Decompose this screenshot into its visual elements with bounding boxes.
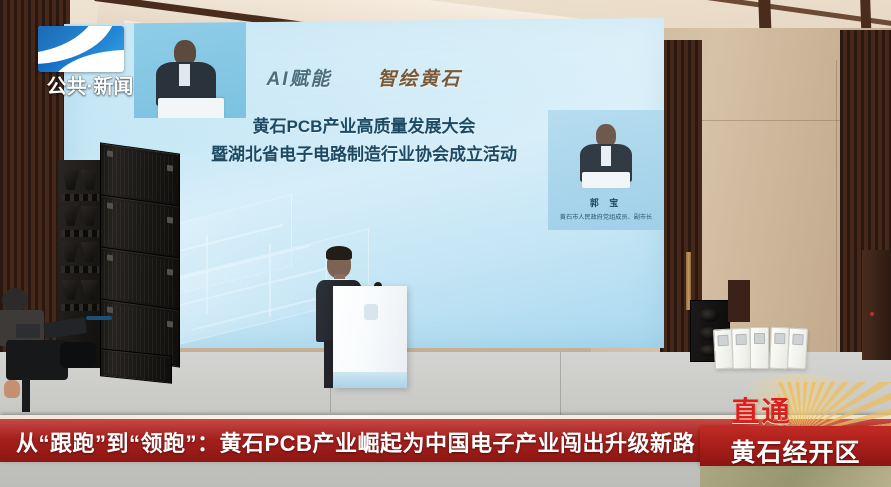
podium-base (333, 372, 407, 388)
wave-swoosh-icon (38, 26, 124, 72)
white-equipment-cabinets (714, 327, 806, 369)
program-corner-badge: 直通 黄石经开区 (700, 388, 891, 487)
inset-caption-title: 黄石市人民政府党组成员、副市长 (555, 213, 657, 222)
broadcast-video-frame: AI赋能智绘黄石 黄石PCB产业高质量发展大会 暨湖北省电子电路制造行业协会成立… (0, 0, 891, 487)
screen-calligraphy-left: AI赋能 (266, 69, 331, 90)
badge-bar: 黄石经开区 (700, 426, 891, 466)
stage-right-doorway (728, 280, 750, 322)
public-news-logo-text: 公共·新闻 (38, 70, 142, 99)
badge-bar-label: 黄石经开区 (700, 433, 891, 469)
wall-indicator-light (870, 312, 874, 316)
speaker-video-inset-left (134, 18, 246, 118)
podium-emblem (364, 304, 378, 320)
badge-top-label: 直通 (666, 390, 857, 430)
screen-calligraphy-right: 智绘黄石 (378, 69, 462, 90)
speaker-video-inset-right: 郭 宝 黄石市人民政府党组成员、副市长 (548, 110, 664, 230)
stage-far-right-door (862, 250, 891, 360)
public-news-logo: 公共·新闻 (38, 26, 142, 96)
broadcast-camera-operator (0, 284, 116, 414)
badge-bottom-texture (700, 466, 891, 487)
headline-text: 从“跟跑”到“领跑”：黄石PCB产业崛起为中国电子产业闯出升级新路 (16, 426, 695, 458)
inset-caption-name: 郭 宝 (548, 196, 664, 209)
